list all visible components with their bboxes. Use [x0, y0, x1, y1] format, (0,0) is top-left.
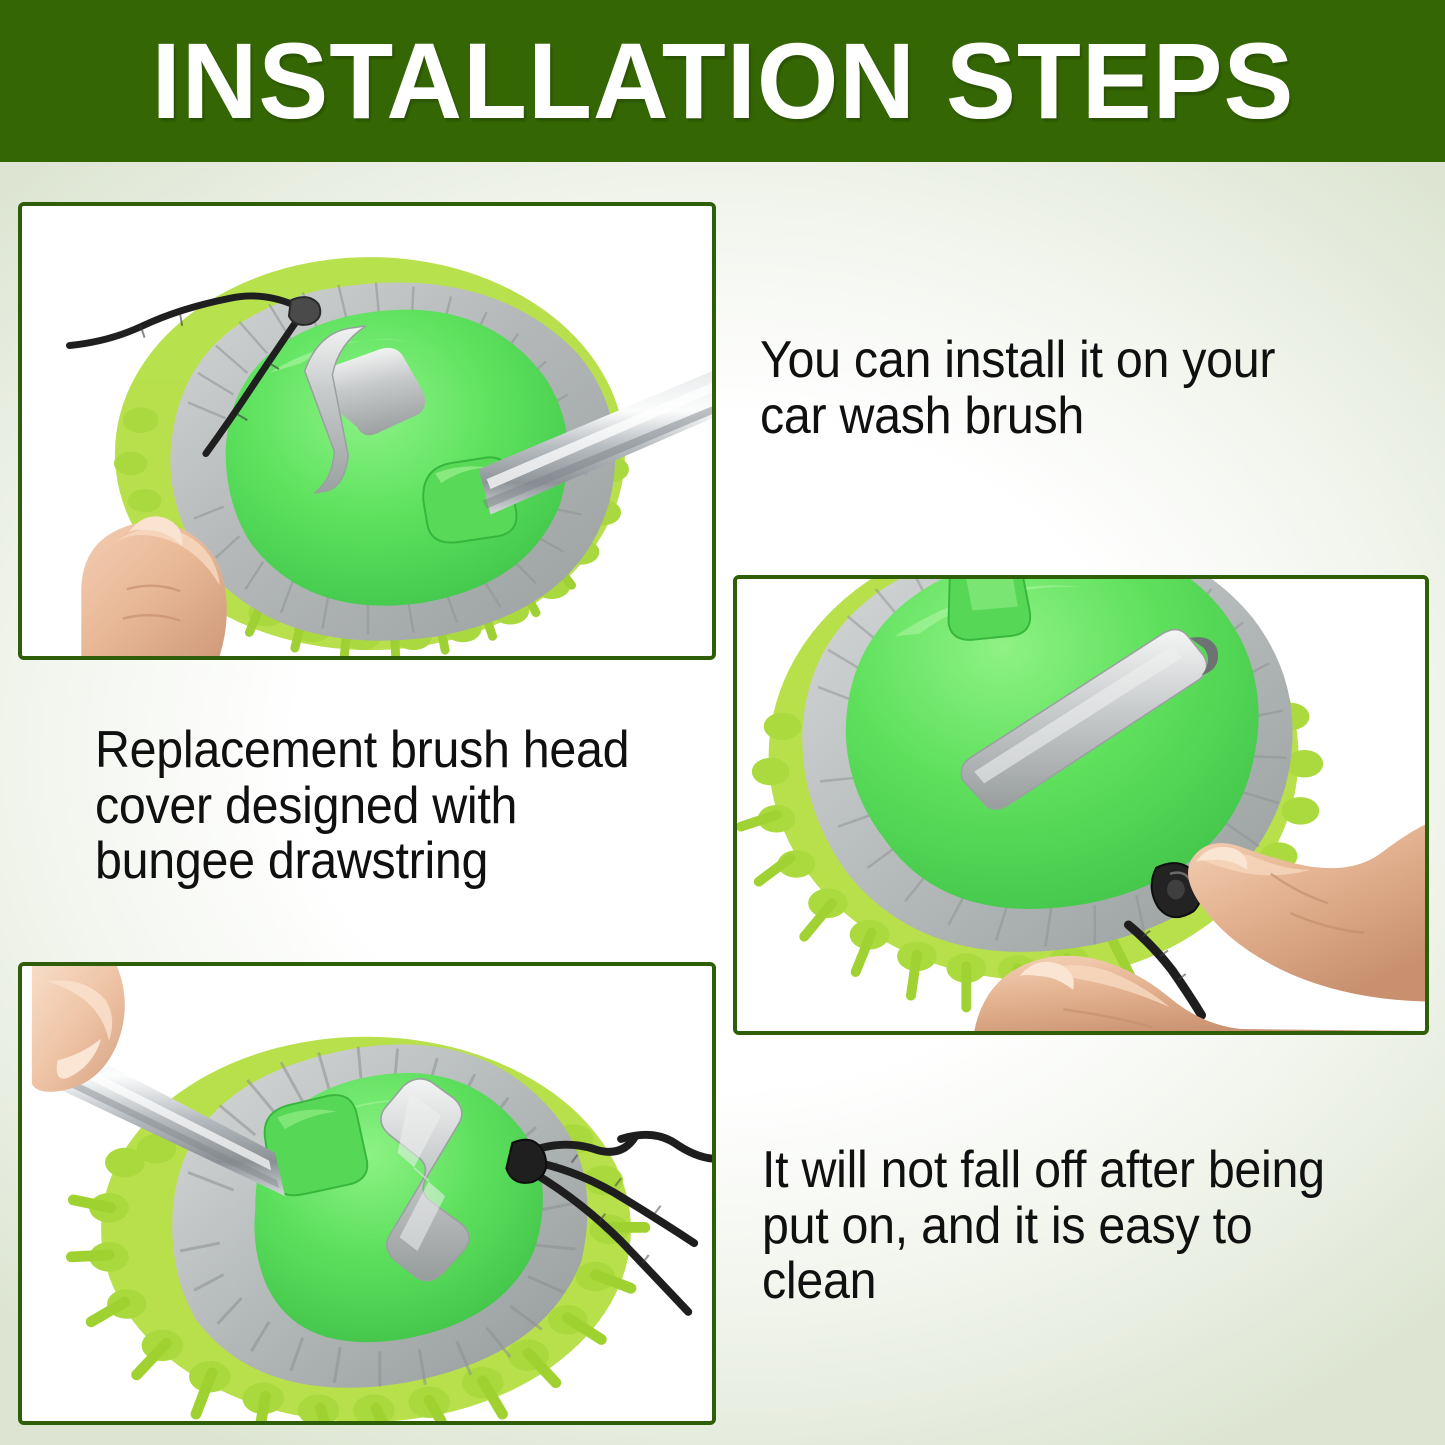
hands-pulling-bungee-drawstring-toggle-photo [737, 579, 1425, 1031]
caption-step-1: You can install it on your car wash brus… [760, 333, 1355, 444]
caption-step-3: It will not fall off after being put on,… [762, 1143, 1376, 1310]
brush-head-with-cover-held-in-hand-photo [22, 206, 712, 656]
page-title: INSTALLATION STEPS [151, 27, 1294, 135]
photo-panel-step-3 [18, 962, 716, 1425]
infographic-page: INSTALLATION STEPS [0, 0, 1445, 1445]
caption-step-2: Replacement brush head cover designed wi… [95, 723, 690, 890]
drawstring-toggle [289, 297, 320, 325]
drawstring-toggle [506, 1140, 546, 1183]
brush-head-fully-covered-on-pole-photo [22, 966, 712, 1421]
photo-panel-step-1 [18, 202, 716, 660]
photo-panel-step-2 [733, 575, 1429, 1035]
header-banner: INSTALLATION STEPS [0, 0, 1445, 162]
